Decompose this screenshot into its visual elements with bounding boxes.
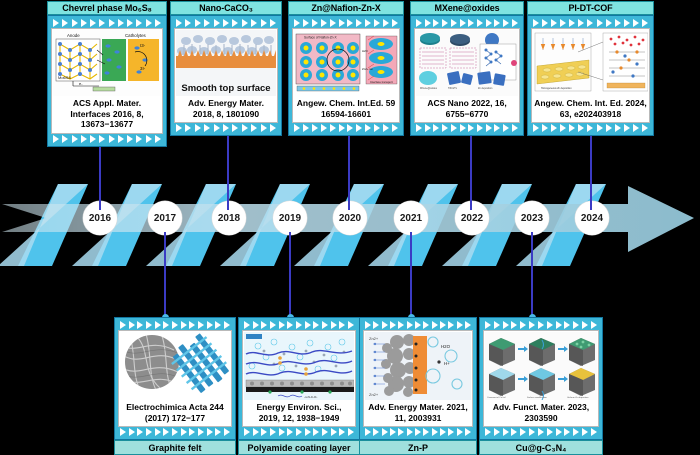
triangle-right-icon xyxy=(322,428,328,436)
triangle-right-icon xyxy=(542,19,548,27)
triangle-right-icon xyxy=(460,19,466,27)
triangle-right-icon xyxy=(261,321,267,329)
cof-membrane-diagram: Homogeneous Zn deposition xyxy=(533,30,648,96)
arrow-strip-bottom xyxy=(363,427,473,437)
triangle-right-icon xyxy=(624,124,630,132)
triangle-right-icon xyxy=(442,19,448,27)
triangle-right-icon xyxy=(573,428,579,436)
arrow-strip-top xyxy=(414,18,520,28)
svg-text:Zn2+ ion: Zn2+ ion xyxy=(362,67,373,71)
triangle-right-icon xyxy=(440,321,446,329)
triangle-right-icon xyxy=(624,19,630,27)
triangle-right-icon xyxy=(633,19,639,27)
arrow-strip-bottom xyxy=(174,123,278,133)
triangle-right-icon xyxy=(356,19,362,27)
triangle-right-icon xyxy=(120,428,126,436)
triangle-right-icon xyxy=(204,124,210,132)
triangle-right-icon xyxy=(416,19,422,27)
triangle-right-icon xyxy=(465,321,471,329)
triangle-right-icon xyxy=(390,428,396,436)
triangle-right-icon xyxy=(587,19,593,27)
triangle-right-icon xyxy=(172,321,178,329)
top-panel-zn-nafion-inner: Surface of Nafion-Zn-X xyxy=(292,28,400,123)
triangle-right-icon xyxy=(120,321,126,329)
triangle-right-icon xyxy=(181,321,187,329)
svg-text:H+: H+ xyxy=(444,361,450,366)
triangle-right-icon xyxy=(253,428,259,436)
triangle-right-icon xyxy=(642,124,648,132)
figure-cu-gcn-process: Commercial Cu foil Surface modification … xyxy=(485,332,597,400)
triangle-right-icon xyxy=(415,428,421,436)
triangle-right-icon xyxy=(127,19,133,27)
triangle-right-icon xyxy=(331,428,337,436)
triangle-right-icon xyxy=(448,321,454,329)
triangle-right-icon xyxy=(477,19,483,27)
triangle-right-icon xyxy=(460,124,466,132)
bottom-panel-zn-p-body: Zn2+ Zn2+ H2O H+ Adv. Energy Mater. 2021… xyxy=(359,317,477,440)
triangle-right-icon xyxy=(533,19,539,27)
svg-text:Surface modification: Surface modification xyxy=(527,396,548,399)
svg-text:I3-: I3- xyxy=(140,43,146,48)
triangle-right-icon xyxy=(207,428,213,436)
svg-text:e-: e- xyxy=(79,81,83,86)
arrow-strip-bottom xyxy=(414,123,520,133)
top-panel-pi-dt-cof-title: PI-DT-COF xyxy=(527,1,654,15)
connector-line-2021 xyxy=(410,232,412,317)
triangle-right-icon xyxy=(204,19,210,27)
triangle-right-icon xyxy=(373,321,379,329)
bottom-panel-polyamide-body: -n-N-C-O- Energy Environ. Sci., 2019, 12… xyxy=(238,317,360,440)
triangle-right-icon xyxy=(270,19,276,27)
triangle-right-icon xyxy=(373,428,379,436)
arrow-strip-top xyxy=(242,320,356,330)
triangle-right-icon xyxy=(185,124,191,132)
triangle-right-icon xyxy=(62,135,68,143)
svg-text:H2O: H2O xyxy=(362,49,369,53)
chevrel-cell-diagram: Anode Catholytes xyxy=(53,30,161,96)
triangle-right-icon xyxy=(339,19,345,27)
triangle-right-icon xyxy=(253,321,259,329)
triangle-right-icon xyxy=(591,428,597,436)
triangle-right-icon xyxy=(642,19,648,27)
triangle-right-icon xyxy=(425,124,431,132)
triangle-right-icon xyxy=(547,428,553,436)
triangle-right-icon xyxy=(485,321,491,329)
top-panel-mxene[interactable]: MXene@oxides xyxy=(410,1,524,136)
arrow-strip-top xyxy=(483,320,599,330)
triangle-right-icon xyxy=(556,428,562,436)
timeline-year-2018[interactable]: 2018 xyxy=(212,201,246,235)
triangle-right-icon xyxy=(520,321,526,329)
bottom-panel-graphite-felt-body: Electrochimica Acta 244 (2017) 172−177 xyxy=(114,317,236,440)
triangle-right-icon xyxy=(312,19,318,27)
triangle-right-icon xyxy=(347,124,353,132)
triangle-right-icon xyxy=(137,321,143,329)
triangle-right-icon xyxy=(432,428,438,436)
triangle-right-icon xyxy=(72,135,78,143)
triangle-right-icon xyxy=(415,321,421,329)
triangle-right-icon xyxy=(118,135,124,143)
figure-nafion-schematic: Surface of Nafion-Zn-X xyxy=(294,30,398,96)
bottom-panel-polyamide[interactable]: -n-N-C-O- Energy Environ. Sci., 2019, 12… xyxy=(238,317,360,455)
connector-line-2023 xyxy=(531,232,533,317)
triangle-right-icon xyxy=(365,124,371,132)
triangle-right-icon xyxy=(407,428,413,436)
zn-p-interface-diagram: Zn2+ Zn2+ H2O H+ xyxy=(365,332,471,400)
triangle-right-icon xyxy=(198,321,204,329)
triangle-right-icon xyxy=(195,19,201,27)
triangle-right-icon xyxy=(155,321,161,329)
triangle-right-icon xyxy=(53,135,59,143)
triangle-right-icon xyxy=(597,124,603,132)
triangle-right-icon xyxy=(529,428,535,436)
triangle-right-icon xyxy=(615,19,621,27)
triangle-right-icon xyxy=(261,19,267,27)
nafion-lattice-diagram: Surface of Nafion-Zn-X xyxy=(294,30,398,96)
polyamide-layer-diagram: -n-N-C-O- xyxy=(244,332,354,400)
triangle-right-icon xyxy=(163,428,169,436)
triangle-right-icon xyxy=(451,19,457,27)
cu-gcn-process-diagram: Commercial Cu foil Surface modification … xyxy=(485,332,597,400)
triangle-right-icon xyxy=(330,19,336,27)
timeline-year-2023[interactable]: 2023 xyxy=(515,201,549,235)
top-panel-mxene-title: MXene@oxides xyxy=(410,1,524,15)
triangle-right-icon xyxy=(207,321,213,329)
triangle-right-icon xyxy=(398,321,404,329)
triangle-right-icon xyxy=(129,321,135,329)
triangle-right-icon xyxy=(433,19,439,27)
triangle-right-icon xyxy=(270,321,276,329)
triangle-right-icon xyxy=(398,428,404,436)
triangle-right-icon xyxy=(365,19,371,27)
svg-text:Zn2+: Zn2+ xyxy=(369,336,379,341)
triangle-right-icon xyxy=(465,428,471,436)
svg-text:Zn deposition: Zn deposition xyxy=(478,87,493,90)
triangle-right-icon xyxy=(224,428,230,436)
top-panel-zn-nafion[interactable]: Zn@Nafion-Zn-X Surface of Nafion-Zn-X xyxy=(288,1,404,136)
triangle-right-icon xyxy=(615,124,621,132)
triangle-right-icon xyxy=(432,321,438,329)
triangle-right-icon xyxy=(578,124,584,132)
triangle-right-icon xyxy=(305,321,311,329)
triangle-right-icon xyxy=(564,321,570,329)
mxene-oxide-diagram: MXene@oxidesTi3C2TxZn deposition xyxy=(416,30,518,96)
figure-polyamide-schematic: -n-N-C-O- xyxy=(244,332,354,400)
bottom-panel-cu-gcn-body: Commercial Cu foil Surface modification … xyxy=(479,317,603,440)
figure-smooth-surface-label: Smooth top surface xyxy=(176,83,276,94)
triangle-right-icon xyxy=(382,428,388,436)
connector-line-2018 xyxy=(227,132,229,210)
triangle-right-icon xyxy=(503,428,509,436)
triangle-right-icon xyxy=(313,321,319,329)
triangle-right-icon xyxy=(303,19,309,27)
triangle-right-icon xyxy=(494,428,500,436)
triangle-right-icon xyxy=(223,124,229,132)
triangle-right-icon xyxy=(569,124,575,132)
triangle-right-icon xyxy=(215,428,221,436)
triangle-right-icon xyxy=(356,124,362,132)
triangle-right-icon xyxy=(383,124,389,132)
triangle-right-icon xyxy=(560,19,566,27)
bottom-panel-zn-p-citation: Adv. Energy Mater. 2021, 11, 2003931 xyxy=(365,400,471,425)
triangle-right-icon xyxy=(146,321,152,329)
triangle-right-icon xyxy=(321,124,327,132)
triangle-right-icon xyxy=(477,124,483,132)
triangle-right-icon xyxy=(321,19,327,27)
bottom-panel-graphite-felt[interactable]: Electrochimica Acta 244 (2017) 172−177 G… xyxy=(114,317,236,455)
triangle-right-icon xyxy=(136,19,142,27)
triangle-right-icon xyxy=(486,124,492,132)
top-panel-pi-dt-cof[interactable]: PI-DT-COF xyxy=(527,1,654,136)
triangle-right-icon xyxy=(99,135,105,143)
triangle-right-icon xyxy=(348,321,354,329)
arrow-strip-bottom xyxy=(118,427,232,437)
triangle-right-icon xyxy=(90,19,96,27)
figure-smooth-surface: Smooth top surface xyxy=(176,30,276,96)
triangle-right-icon xyxy=(287,321,293,329)
connector-line-2017 xyxy=(164,232,166,317)
triangle-right-icon xyxy=(214,124,220,132)
svg-text:Commercial Cu foil: Commercial Cu foil xyxy=(487,396,506,399)
timeline-year-2017[interactable]: 2017 xyxy=(148,201,182,235)
figure-cof-schematic: Homogeneous Zn deposition xyxy=(533,30,648,96)
triangle-right-icon xyxy=(146,428,152,436)
timeline-year-2020[interactable]: 2020 xyxy=(333,201,367,235)
triangle-right-icon xyxy=(176,124,182,132)
timeline-year-2019[interactable]: 2019 xyxy=(273,201,307,235)
arrow-strip-bottom xyxy=(51,134,163,144)
triangle-right-icon xyxy=(485,428,491,436)
triangle-right-icon xyxy=(423,321,429,329)
arrow-strip-top xyxy=(51,18,163,28)
arrow-strip-bottom xyxy=(242,427,356,437)
connector-line-2022 xyxy=(470,132,472,210)
timeline-year-2022[interactable]: 2022 xyxy=(455,201,489,235)
arrow-strip-top xyxy=(531,18,650,28)
triangle-right-icon xyxy=(244,321,250,329)
triangle-right-icon xyxy=(244,428,250,436)
triangle-right-icon xyxy=(442,124,448,132)
triangle-right-icon xyxy=(511,321,517,329)
triangle-right-icon xyxy=(569,19,575,27)
triangle-right-icon xyxy=(270,428,276,436)
triangle-right-icon xyxy=(155,19,161,27)
arrow-strip-top xyxy=(174,18,278,28)
svg-text:Catholytes: Catholytes xyxy=(125,33,147,38)
caco3-layer-diagram xyxy=(176,30,276,78)
triangle-right-icon xyxy=(232,124,238,132)
triangle-right-icon xyxy=(198,428,204,436)
triangle-right-icon xyxy=(468,19,474,27)
top-panel-chevrel[interactable]: Chevrel phase Mo₆S₈ Anode Catholytes xyxy=(47,1,167,147)
arrow-strip-bottom xyxy=(292,123,400,133)
triangle-right-icon xyxy=(176,19,182,27)
triangle-right-icon xyxy=(503,321,509,329)
arrow-strip-top xyxy=(118,320,232,330)
triangle-right-icon xyxy=(448,428,454,436)
connector-line-2020 xyxy=(348,132,350,210)
top-panel-nano-caco3[interactable]: Nano-CaCO₃ xyxy=(170,1,282,136)
triangle-right-icon xyxy=(215,321,221,329)
top-panel-nano-caco3-citation: Adv. Energy Mater. 2018, 8, 1801090 xyxy=(176,96,276,121)
triangle-right-icon xyxy=(242,19,248,27)
triangle-right-icon xyxy=(224,321,230,329)
timeline-year-2021[interactable]: 2021 xyxy=(394,201,428,235)
timeline-year-2024[interactable]: 2024 xyxy=(575,201,609,235)
triangle-right-icon xyxy=(511,428,517,436)
triangle-right-icon xyxy=(633,124,639,132)
bottom-panel-graphite-felt-inner: Electrochimica Acta 244 (2017) 172−177 xyxy=(118,330,232,427)
triangle-right-icon xyxy=(129,428,135,436)
triangle-right-icon xyxy=(423,428,429,436)
triangle-right-icon xyxy=(251,124,257,132)
connector-line-2024 xyxy=(590,132,592,210)
svg-text:Mo6S8: Mo6S8 xyxy=(58,75,71,80)
triangle-right-icon xyxy=(512,19,518,27)
triangle-right-icon xyxy=(172,428,178,436)
triangle-right-icon xyxy=(451,124,457,132)
triangle-right-icon xyxy=(591,321,597,329)
triangle-right-icon xyxy=(118,19,124,27)
svg-text:Homogeneous Zn deposition: Homogeneous Zn deposition xyxy=(541,87,572,90)
triangle-right-icon xyxy=(305,428,311,436)
top-panel-nano-caco3-inner: Smooth top surface Adv. Energy Mater. 20… xyxy=(174,28,278,123)
triangle-right-icon xyxy=(392,124,398,132)
top-panel-mxene-citation: ACS Nano 2022, 16, 6755−6770 xyxy=(416,96,518,121)
triangle-right-icon xyxy=(99,19,105,27)
triangle-right-icon xyxy=(573,321,579,329)
top-panel-pi-dt-cof-citation: Angew. Chem. Int. Ed. 2024, 63, e2024039… xyxy=(533,96,648,121)
triangle-right-icon xyxy=(53,19,59,27)
triangle-right-icon xyxy=(270,124,276,132)
triangle-right-icon xyxy=(62,19,68,27)
triangle-right-icon xyxy=(382,321,388,329)
triangle-right-icon xyxy=(181,428,187,436)
triangle-right-icon xyxy=(374,19,380,27)
bottom-panel-zn-p-inner: Zn2+ Zn2+ H2O H+ Adv. Energy Mater. 2021… xyxy=(363,330,473,427)
triangle-right-icon xyxy=(155,135,161,143)
triangle-right-icon xyxy=(90,135,96,143)
triangle-right-icon xyxy=(564,428,570,436)
triangle-right-icon xyxy=(303,124,309,132)
triangle-right-icon xyxy=(223,19,229,27)
triangle-right-icon xyxy=(365,321,371,329)
triangle-right-icon xyxy=(587,124,593,132)
triangle-right-icon xyxy=(81,19,87,27)
triangle-right-icon xyxy=(533,124,539,132)
top-panel-pi-dt-cof-body: Homogeneous Zn deposition xyxy=(527,15,654,136)
figure-canvas: 2016 2017 2018 2019 2020 2021 2022 2023 … xyxy=(0,0,700,448)
triangle-right-icon xyxy=(127,135,133,143)
triangle-right-icon xyxy=(512,124,518,132)
bottom-panel-cu-gcn-citation: Adv. Funct. Mater. 2023, 2303590 xyxy=(485,400,597,425)
bottom-panel-polyamide-inner: -n-N-C-O- Energy Environ. Sci., 2019, 12… xyxy=(242,330,356,427)
triangle-right-icon xyxy=(261,124,267,132)
triangle-right-icon xyxy=(339,124,345,132)
figure-mxene-schematic: MXene@oxidesTi3C2TxZn deposition xyxy=(416,30,518,96)
svg-text:-n-N-C-O-: -n-N-C-O- xyxy=(304,395,317,399)
triangle-right-icon xyxy=(348,428,354,436)
arrow-strip-bottom xyxy=(483,427,599,437)
figure-chevrel-schematic: Anode Catholytes xyxy=(53,30,161,96)
triangle-right-icon xyxy=(542,124,548,132)
svg-text:MXene@oxides: MXene@oxides xyxy=(420,87,438,90)
triangle-right-icon xyxy=(81,135,87,143)
svg-text:Zn2+: Zn2+ xyxy=(369,392,379,397)
svg-text:H2O: H2O xyxy=(441,344,451,349)
triangle-right-icon xyxy=(365,428,371,436)
arrow-strip-top xyxy=(363,320,473,330)
triangle-right-icon xyxy=(503,19,509,27)
timeline-axis: 2016 2017 2018 2019 2020 2021 2022 2023 … xyxy=(0,168,700,268)
triangle-right-icon xyxy=(486,19,492,27)
arrow-strip-bottom xyxy=(531,123,650,133)
triangle-right-icon xyxy=(582,321,588,329)
triangle-right-icon xyxy=(261,428,267,436)
graphite-felt-diagram xyxy=(120,332,230,400)
top-panel-chevrel-inner: Anode Catholytes xyxy=(51,28,163,134)
bottom-panel-graphite-felt-citation: Electrochimica Acta 244 (2017) 172−177 xyxy=(120,400,230,425)
triangle-right-icon xyxy=(383,19,389,27)
triangle-right-icon xyxy=(425,19,431,27)
triangle-right-icon xyxy=(109,135,115,143)
triangle-right-icon xyxy=(189,428,195,436)
triangle-right-icon xyxy=(551,124,557,132)
triangle-right-icon xyxy=(339,321,345,329)
triangle-right-icon xyxy=(538,428,544,436)
triangle-right-icon xyxy=(146,135,152,143)
triangle-right-icon xyxy=(457,428,463,436)
bottom-panel-cu-gcn-inner: Commercial Cu foil Surface modification … xyxy=(483,330,599,427)
triangle-right-icon xyxy=(468,124,474,132)
triangle-right-icon xyxy=(440,428,446,436)
triangle-right-icon xyxy=(137,428,143,436)
svg-text:Ti3C2Tx: Ti3C2Tx xyxy=(448,87,458,90)
svg-text:Uniform Zn deposition: Uniform Zn deposition xyxy=(567,396,589,399)
top-panel-mxene-inner: MXene@oxidesTi3C2TxZn deposition ACS Nan… xyxy=(414,28,520,123)
triangle-right-icon xyxy=(339,428,345,436)
top-panel-zn-nafion-citation: Angew. Chem. Int.Ed. 59 16594-16601 xyxy=(294,96,398,121)
triangle-right-icon xyxy=(551,19,557,27)
top-panel-zn-nafion-title: Zn@Nafion-Zn-X xyxy=(288,1,404,15)
bottom-panel-polyamide-citation: Energy Environ. Sci., 2019, 12, 1938−194… xyxy=(244,400,354,425)
bottom-panel-cu-gcn[interactable]: Commercial Cu foil Surface modification … xyxy=(479,317,603,455)
figure-graphite-felt-sem xyxy=(120,332,230,400)
triangle-right-icon xyxy=(313,428,319,436)
triangle-right-icon xyxy=(556,321,562,329)
triangle-right-icon xyxy=(163,321,169,329)
triangle-right-icon xyxy=(287,428,293,436)
triangle-right-icon xyxy=(416,124,422,132)
triangle-right-icon xyxy=(146,19,152,27)
triangle-right-icon xyxy=(279,321,285,329)
triangle-right-icon xyxy=(606,124,612,132)
bottom-panel-zn-p[interactable]: Zn2+ Zn2+ H2O H+ Adv. Energy Mater. 2021… xyxy=(359,317,477,455)
top-panel-nano-caco3-title: Nano-CaCO₃ xyxy=(170,1,282,15)
triangle-right-icon xyxy=(294,124,300,132)
triangle-right-icon xyxy=(296,321,302,329)
connector-line-2019 xyxy=(289,232,291,317)
top-panel-mxene-body: MXene@oxidesTi3C2TxZn deposition ACS Nan… xyxy=(410,15,524,136)
triangle-right-icon xyxy=(494,19,500,27)
triangle-right-icon xyxy=(347,19,353,27)
top-panel-chevrel-title: Chevrel phase Mo₆S₈ xyxy=(47,1,167,15)
triangle-right-icon xyxy=(155,428,161,436)
triangle-right-icon xyxy=(407,321,413,329)
triangle-right-icon xyxy=(214,19,220,27)
triangle-right-icon xyxy=(520,428,526,436)
svg-text:Interface transport: Interface transport xyxy=(370,80,393,84)
